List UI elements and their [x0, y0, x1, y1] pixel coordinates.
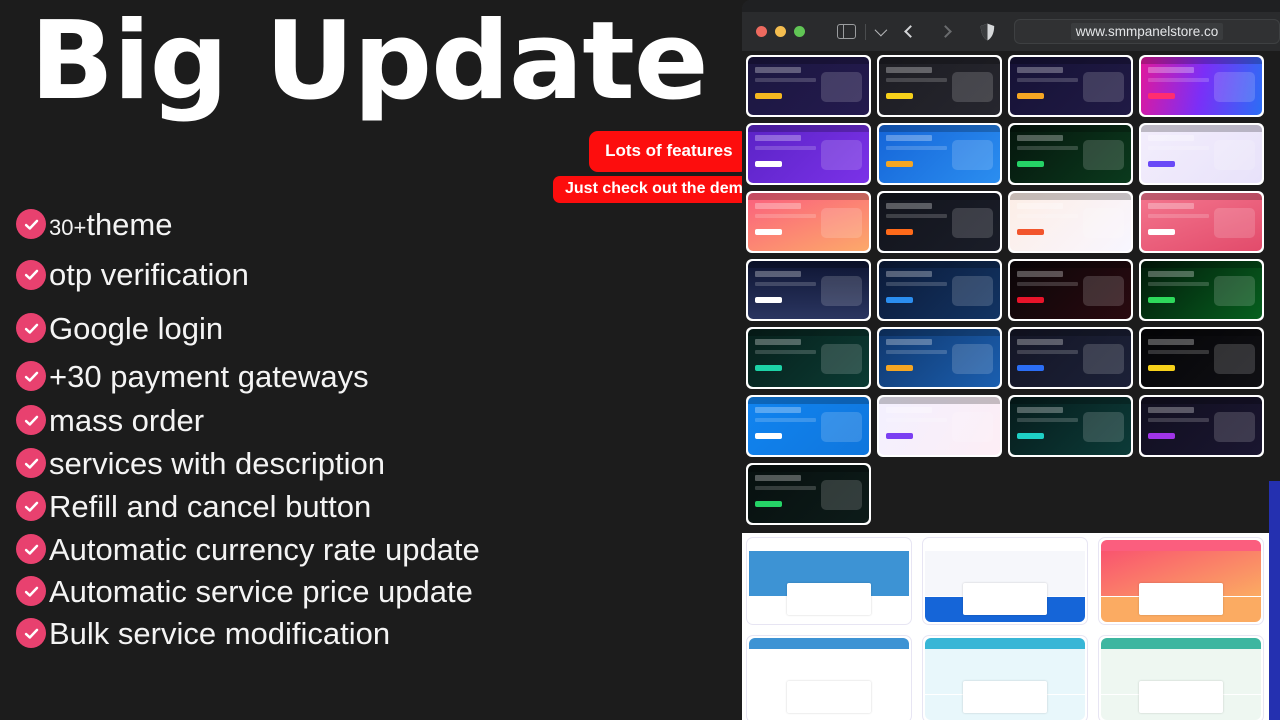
- thumbnail-cta-button: [755, 93, 782, 99]
- theme-thumbnail[interactable]: [1008, 191, 1133, 253]
- thumbnail-navbar: [1010, 329, 1131, 336]
- theme-thumbnail[interactable]: [746, 191, 871, 253]
- thumbnail-illustration: [952, 344, 993, 374]
- url-text: www.smmpanelstore.co: [1071, 23, 1224, 40]
- theme-dark-orange-panel: [879, 193, 1000, 251]
- thumbnail-cta-button: [1148, 161, 1175, 167]
- feature-item: Automatic service price update: [16, 570, 480, 612]
- feature-item: Refill and cancel button: [16, 484, 480, 528]
- forward-button[interactable]: [941, 27, 950, 36]
- feature-list: 30+themeotp verificationGoogle login+30 …: [16, 201, 480, 654]
- thumbnail-illustration: [1214, 412, 1255, 442]
- thumbnail-cta-button: [1148, 433, 1175, 439]
- feature-label: Automatic currency rate update: [47, 534, 480, 565]
- thumbnail-navbar: [925, 638, 1085, 649]
- theme-blue-demo-social: [879, 329, 1000, 387]
- thumbnail-illustration: [1083, 72, 1124, 102]
- feature-item: Bulk service modification: [16, 612, 480, 654]
- theme-night-boat: [748, 261, 869, 319]
- check-circle-icon: [16, 361, 46, 391]
- theme-thumbnail[interactable]: [1139, 55, 1264, 117]
- thumbnail-navbar: [879, 57, 1000, 64]
- theme-green-neon: [1010, 125, 1131, 183]
- theme-thumbnail-large[interactable]: [922, 537, 1088, 625]
- feature-item: Automatic currency rate update: [16, 528, 480, 570]
- screenshot-root: Big Update Lots of features Just check o…: [0, 0, 1280, 720]
- thumbnail-illustration: [821, 140, 862, 170]
- theme-dark-doge: [1010, 329, 1131, 387]
- thumbnail-illustration: [1083, 412, 1124, 442]
- browser-window: www.smmpanelstore.co: [742, 0, 1280, 720]
- thumbnail-navbar: [1010, 397, 1131, 404]
- thumbnail-navbar: [748, 125, 869, 132]
- check-circle-icon: [16, 448, 46, 478]
- privacy-report-button[interactable]: [980, 23, 995, 41]
- thumbnail-cta-button: [755, 365, 782, 371]
- theme-navy-buy-followers: [1010, 57, 1131, 115]
- thumbnail-navbar: [1101, 638, 1261, 649]
- theme-pink-sakura: [1141, 193, 1262, 251]
- feature-label: mass order: [47, 405, 204, 436]
- theme-thumbnail[interactable]: [877, 55, 1002, 117]
- thumbnail-navbar: [1010, 193, 1131, 200]
- page-right-edge: [1269, 51, 1280, 481]
- theme-thumbnail[interactable]: [1139, 259, 1264, 321]
- thumbnail-navbar: [748, 465, 869, 472]
- thumbnail-navbar: [879, 329, 1000, 336]
- thumbnail-illustration: [1214, 140, 1255, 170]
- sidebar-toggle-button[interactable]: [837, 24, 884, 40]
- thumbnail-navbar: [1141, 397, 1262, 404]
- thumbnail-navbar: [748, 193, 869, 200]
- address-bar[interactable]: www.smmpanelstore.co: [1014, 19, 1280, 44]
- thumbnail-illustration: [821, 208, 862, 238]
- thumbnail-navbar: [748, 57, 869, 64]
- check-circle-icon: [16, 405, 46, 435]
- check-circle-icon: [16, 313, 46, 343]
- thumbnail-cta-button: [1148, 365, 1175, 371]
- thumbnail-navbar: [1141, 329, 1262, 336]
- thumbnail-navbar: [925, 540, 1085, 551]
- theme-teal-avatar: [748, 329, 869, 387]
- chevron-down-icon[interactable]: [875, 24, 888, 37]
- feature-label: 30+theme: [47, 209, 173, 240]
- theme-dark-discount: [748, 465, 869, 523]
- thumbnail-illustration: [952, 412, 993, 442]
- thumbnail-cta-button: [755, 297, 782, 303]
- feature-label: otp verification: [47, 259, 249, 290]
- thumbnail-cta-button: [1148, 229, 1175, 235]
- feature-label: Bulk service modification: [47, 618, 390, 649]
- check-circle-icon: [16, 576, 46, 606]
- theme-thumbnail[interactable]: [1008, 55, 1133, 117]
- theme-blue-super-cheap: [925, 540, 1085, 622]
- theme-thumbnail[interactable]: [877, 191, 1002, 253]
- status-badge-features: Lots of features: [589, 131, 742, 172]
- theme-thumbnail[interactable]: [1008, 395, 1133, 457]
- theme-dark-purple-login: [748, 57, 869, 115]
- theme-red-dark: [1010, 261, 1131, 319]
- feature-label: services with description: [47, 448, 385, 479]
- thumbnail-illustration: [821, 344, 862, 374]
- feature-label: Google login: [47, 313, 223, 344]
- theme-peach-light: [1010, 193, 1131, 251]
- feature-item: services with description: [16, 442, 480, 484]
- thumbnail-cta-button: [1017, 365, 1044, 371]
- thumbnail-cta-button: [886, 161, 913, 167]
- maximize-window-button[interactable]: [794, 26, 805, 37]
- feature-label-prefix: 30+: [49, 215, 86, 240]
- theme-thumbnail-large[interactable]: [746, 635, 912, 720]
- thumbnail-illustration: [821, 276, 862, 306]
- thumbnail-illustration: [821, 412, 862, 442]
- chevron-right-icon: [939, 25, 952, 38]
- theme-lightblue-best-cheapest: [749, 540, 909, 622]
- thumbnail-navbar: [1141, 125, 1262, 132]
- thumbnail-navbar: [1010, 261, 1131, 268]
- thumbnail-illustration: [1083, 344, 1124, 374]
- theme-mint-check-features: [1101, 638, 1261, 720]
- theme-thumbnail[interactable]: [1139, 327, 1264, 389]
- thumbnail-illustration: [952, 140, 993, 170]
- thumbnail-navbar: [749, 540, 909, 551]
- thumbnail-cta-button: [1017, 93, 1044, 99]
- feature-label: +30 payment gateways: [47, 361, 369, 392]
- thumbnail-cta-button: [1017, 297, 1044, 303]
- theme-navy-worlds-best: [879, 261, 1000, 319]
- thumbnail-form-card: [963, 583, 1046, 616]
- promo-panel: Big Update Lots of features Just check o…: [0, 0, 742, 720]
- thumbnail-cta-button: [886, 365, 913, 371]
- theme-thumbnail-large[interactable]: [1098, 635, 1264, 720]
- thumbnail-illustration: [821, 72, 862, 102]
- thumbnail-cta-button: [886, 229, 913, 235]
- thumbnail-cta-button: [886, 93, 913, 99]
- page-accent-strip: [1269, 481, 1280, 720]
- theme-cyan-check-features: [925, 638, 1085, 720]
- thumbnail-navbar: [879, 193, 1000, 200]
- thumbnail-cta-button: [1148, 93, 1175, 99]
- thumbnail-illustration: [1214, 72, 1255, 102]
- theme-blue-flat: [748, 397, 869, 455]
- theme-thumbnail[interactable]: [1008, 327, 1133, 389]
- thumbnail-cta-button: [1017, 161, 1044, 167]
- thumbnail-form-card: [1139, 681, 1222, 714]
- theme-thumbnail[interactable]: [1139, 123, 1264, 185]
- check-circle-icon: [16, 260, 46, 290]
- thumbnail-navbar: [748, 397, 869, 404]
- thumbnail-navbar: [1010, 125, 1131, 132]
- sidebar-icon: [837, 24, 856, 39]
- theme-thumbnail-grid-small: [746, 55, 1276, 525]
- theme-blue-solution: [879, 125, 1000, 183]
- theme-thumbnail-grid-large: [746, 537, 1276, 720]
- thumbnail-navbar: [1101, 540, 1261, 551]
- thumbnail-illustration: [1214, 276, 1255, 306]
- theme-thumbnail[interactable]: [877, 123, 1002, 185]
- theme-thumbnail[interactable]: [877, 395, 1002, 457]
- thumbnail-navbar: [879, 397, 1000, 404]
- thumbnail-illustration: [1214, 344, 1255, 374]
- theme-thumbnail[interactable]: [1008, 259, 1133, 321]
- toolbar-divider: [865, 24, 866, 40]
- theme-thumbnail[interactable]: [1008, 123, 1133, 185]
- thumbnail-form-card: [787, 583, 870, 616]
- feature-item: otp verification: [16, 247, 480, 302]
- minimize-window-button[interactable]: [775, 26, 786, 37]
- thumbnail-form-card: [787, 681, 870, 714]
- thumbnail-navbar: [1141, 193, 1262, 200]
- thumbnail-navbar: [1141, 57, 1262, 64]
- check-circle-icon: [16, 491, 46, 521]
- thumbnail-form-card: [1139, 583, 1222, 616]
- window-controls: [756, 26, 805, 37]
- thumbnail-illustration: [952, 72, 993, 102]
- thumbnail-navbar: [749, 638, 909, 649]
- web-page-content: [742, 51, 1280, 720]
- shield-icon: [980, 23, 995, 41]
- thumbnail-cta-button: [755, 501, 782, 507]
- back-button[interactable]: [906, 27, 915, 36]
- theme-thumbnail[interactable]: [746, 463, 871, 525]
- theme-thumbnail[interactable]: [746, 259, 871, 321]
- theme-white-cheap-panel: [879, 397, 1000, 455]
- check-circle-icon: [16, 209, 46, 239]
- feature-item: 30+theme: [16, 201, 480, 247]
- thumbnail-cta-button: [755, 161, 782, 167]
- thumbnail-navbar: [1010, 57, 1131, 64]
- thumbnail-cta-button: [755, 229, 782, 235]
- feature-label: Refill and cancel button: [47, 491, 371, 522]
- theme-thumbnail[interactable]: [746, 395, 871, 457]
- thumbnail-navbar: [748, 329, 869, 336]
- feature-item: +30 payment gateways: [16, 354, 480, 398]
- theme-thumbnail-large[interactable]: [1098, 537, 1264, 625]
- thumbnail-illustration: [1083, 276, 1124, 306]
- status-badge-demo: Just check out the demo: [553, 176, 742, 203]
- theme-thumbnail[interactable]: [1139, 191, 1264, 253]
- theme-dark-yellow-order: [879, 57, 1000, 115]
- theme-thumbnail[interactable]: [877, 327, 1002, 389]
- thumbnail-illustration: [952, 208, 993, 238]
- theme-magenta-gradient: [1141, 57, 1262, 115]
- thumbnail-navbar: [879, 125, 1000, 132]
- thumbnail-navbar: [879, 261, 1000, 268]
- theme-thumbnail-large[interactable]: [746, 537, 912, 625]
- browser-toolbar: www.smmpanelstore.co: [742, 12, 1280, 51]
- theme-lavender-light: [1141, 125, 1262, 183]
- thumbnail-cta-button: [1017, 433, 1044, 439]
- thumbnail-illustration: [952, 276, 993, 306]
- close-window-button[interactable]: [756, 26, 767, 37]
- thumbnail-navbar: [748, 261, 869, 268]
- thumbnail-cta-button: [755, 433, 782, 439]
- thumbnail-form-card: [963, 681, 1046, 714]
- thumbnail-cta-button: [886, 297, 913, 303]
- theme-blue-header-form: [749, 638, 909, 720]
- theme-thumbnail[interactable]: [1139, 395, 1264, 457]
- chevron-left-icon: [904, 25, 917, 38]
- feature-label: Automatic service price update: [47, 576, 473, 607]
- theme-thumbnail[interactable]: [746, 123, 871, 185]
- theme-black-better-ideas: [1141, 329, 1262, 387]
- theme-thumbnail-large[interactable]: [922, 635, 1088, 720]
- thumbnail-cta-button: [886, 433, 913, 439]
- theme-teal-boost: [1010, 397, 1131, 455]
- theme-pinkorange-super-fast: [1101, 540, 1261, 622]
- check-circle-icon: [16, 534, 46, 564]
- theme-violet-market: [748, 125, 869, 183]
- theme-purple-social: [1141, 397, 1262, 455]
- page-title: Big Update: [30, 8, 708, 116]
- feature-item: mass order: [16, 398, 480, 442]
- thumbnail-cta-button: [1017, 229, 1044, 235]
- theme-pink-coral: [748, 193, 869, 251]
- feature-item: Google login: [16, 302, 480, 354]
- badge-group: Lots of features Just check out the demo: [553, 131, 742, 203]
- thumbnail-illustration: [1214, 208, 1255, 238]
- thumbnail-navbar: [1141, 261, 1262, 268]
- theme-green-phone: [1141, 261, 1262, 319]
- thumbnail-illustration: [1083, 140, 1124, 170]
- theme-thumbnail[interactable]: [877, 259, 1002, 321]
- theme-thumbnail[interactable]: [746, 327, 871, 389]
- thumbnail-illustration: [1083, 208, 1124, 238]
- window-title-bar: [742, 0, 1280, 12]
- thumbnail-illustration: [821, 480, 862, 510]
- check-circle-icon: [16, 618, 46, 648]
- thumbnail-cta-button: [1148, 297, 1175, 303]
- theme-thumbnail[interactable]: [746, 55, 871, 117]
